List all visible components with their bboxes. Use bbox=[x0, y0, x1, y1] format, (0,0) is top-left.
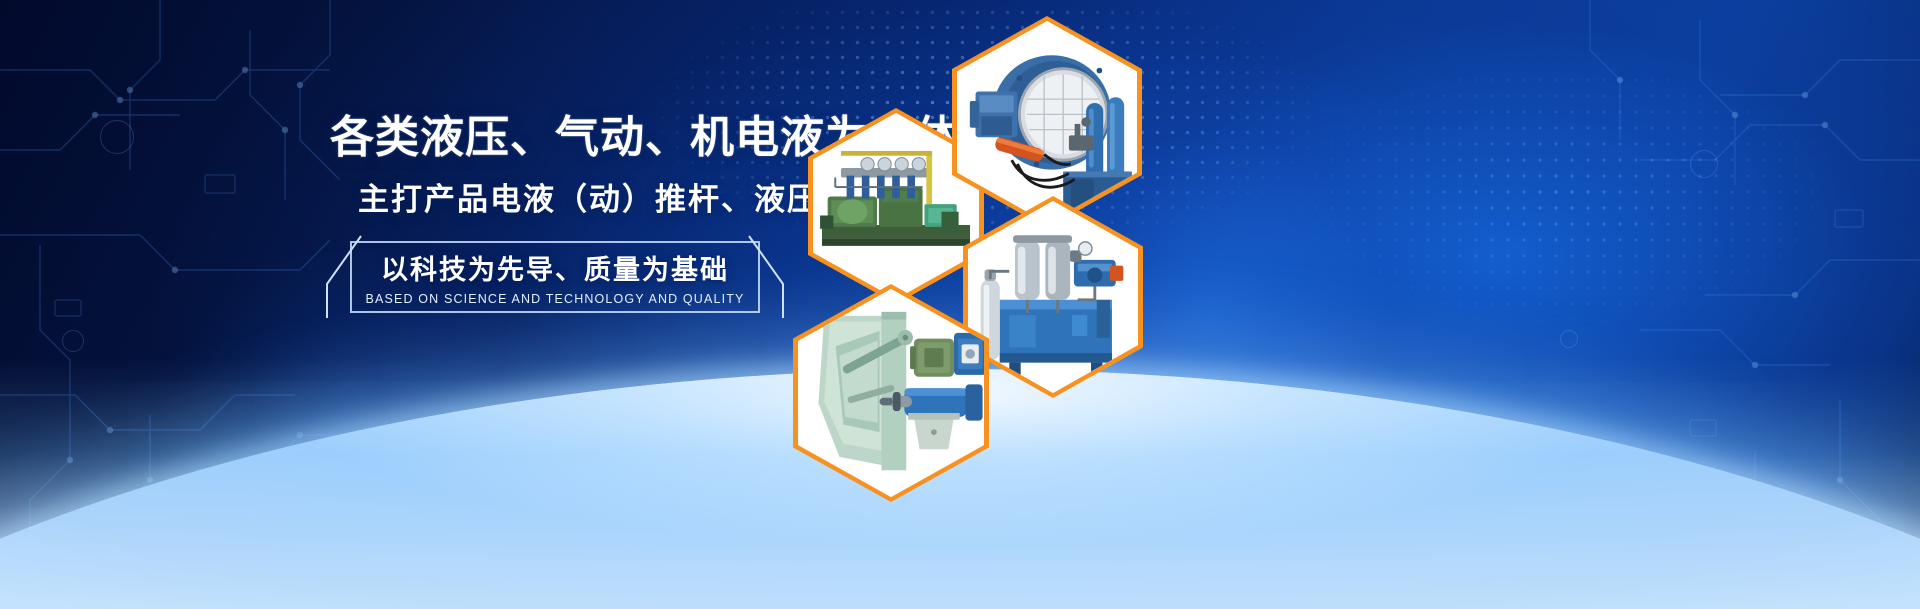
slogan-block: 以科技为先导、质量为基础 BASED ON SCIENCE AND TECHNO… bbox=[350, 241, 760, 313]
slogan-chinese: 以科技为先导、质量为基础 bbox=[381, 248, 729, 287]
hex-inner-frame bbox=[968, 201, 1138, 393]
bokeh-circle bbox=[100, 120, 134, 154]
hex-inner-frame bbox=[957, 21, 1137, 223]
hero-banner: 各类液压、气动、机电液为一体 主打产品电液（动）推杆、液压站 以科技为先导、质量… bbox=[0, 0, 1920, 609]
dot-matrix-decoration-right bbox=[1180, 40, 1880, 380]
bokeh-circle bbox=[1690, 150, 1718, 178]
slogan-english: BASED ON SCIENCE AND TECHNOLOGY AND QUAL… bbox=[366, 292, 745, 306]
slogan-box: 以科技为先导、质量为基础 BASED ON SCIENCE AND TECHNO… bbox=[350, 241, 760, 313]
hydraulic-power-unit-photo bbox=[968, 201, 1138, 393]
bokeh-circle bbox=[1560, 330, 1578, 348]
bokeh-circle bbox=[62, 330, 84, 352]
butterfly-valve-photo bbox=[957, 21, 1137, 223]
